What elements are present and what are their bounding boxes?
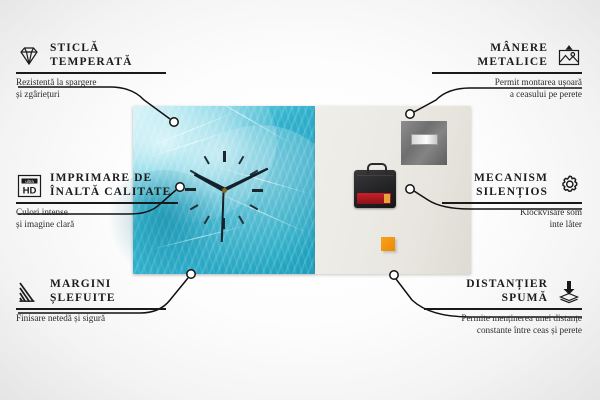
feature-title: MARGINI ȘLEFUITE [50, 278, 116, 305]
clock-center-pin [222, 188, 227, 193]
feature-title-line2: SPUMĂ [502, 292, 548, 304]
feature-title-row: MARGINI ȘLEFUITE [16, 278, 166, 305]
quartz-mechanism [354, 170, 396, 208]
feature-description: Culori intense și imagine clară [16, 207, 178, 230]
battery-terminal [384, 194, 390, 203]
product-illustration [133, 106, 471, 274]
feature-underline [424, 308, 582, 310]
infographic-canvas: STICLĂ TEMPERATĂ Rezistentă la spargere … [0, 0, 600, 400]
feature-polished-edges: MARGINI ȘLEFUITE Finisare netedă și sigu… [16, 278, 166, 325]
feature-description: Permite menținerea unei distanțe constan… [424, 313, 582, 336]
feature-title: MECANISM SILENȚIOS [474, 172, 548, 199]
feature-title-line1: IMPRIMARE DE [50, 172, 152, 184]
mechanism-hanger-loop [367, 163, 386, 174]
feature-desc-line1: Klockvisare som [520, 207, 582, 217]
feature-title-line1: MECANISM [474, 172, 548, 184]
feature-desc-line1: Finisare netedă și sigură [16, 313, 105, 323]
feature-title-row: DISTANȚIER SPUMĂ [424, 278, 582, 305]
feature-title-line2: ÎNALTĂ CALITATE [50, 186, 171, 198]
feature-metal-handles: MÂNERE METALICE Permit montarea ușoară a… [432, 42, 582, 100]
svg-text:HD: HD [22, 185, 36, 196]
feature-title-line1: STICLĂ [50, 42, 99, 54]
gear-icon [556, 173, 582, 199]
feature-underline [16, 72, 166, 74]
feature-title: DISTANȚIER SPUMĂ [466, 278, 548, 305]
feature-title-row: MECANISM SILENȚIOS [442, 172, 582, 199]
polished-edge-icon [16, 279, 42, 305]
feature-foam-spacer: DISTANȚIER SPUMĂ Permite menținerea unei… [424, 278, 582, 336]
feature-description: Permit montarea ușoară a ceasului pe per… [432, 77, 582, 100]
feature-title-row: MÂNERE METALICE [432, 42, 582, 69]
feature-tempered-glass: STICLĂ TEMPERATĂ Rezistentă la spargere … [16, 42, 166, 100]
foam-spacer [381, 237, 395, 251]
feature-high-quality-print: ultra HD IMPRIMARE DE ÎNALTĂ CALITATE Cu… [16, 172, 178, 230]
feature-desc-line1: Permite menținerea unei distanțe [461, 313, 582, 323]
feature-description: Rezistentă la spargere și zgâriețuri [16, 77, 166, 100]
ultra-hd-icon: ultra HD [16, 173, 42, 199]
feature-desc-line1: Permit montarea ușoară [495, 77, 582, 87]
diamond-icon [16, 43, 42, 69]
feature-underline [442, 202, 582, 204]
feature-silent-mechanism: MECANISM SILENȚIOS Klockvisare som inte … [442, 172, 582, 230]
feature-desc-line2: a ceasului pe perete [510, 89, 582, 99]
feature-title-line2: SILENȚIOS [476, 186, 548, 198]
framed-picture-icon [556, 43, 582, 69]
feature-title-row: STICLĂ TEMPERATĂ [16, 42, 166, 69]
feature-desc-line2: și imagine clară [16, 219, 74, 229]
mechanism-seam [357, 175, 392, 176]
feature-underline [432, 72, 582, 74]
feature-title-row: ultra HD IMPRIMARE DE ÎNALTĂ CALITATE [16, 172, 178, 199]
battery [357, 193, 391, 204]
feature-title: IMPRIMARE DE ÎNALTĂ CALITATE [50, 172, 171, 199]
feature-title-line1: MÂNERE [490, 42, 548, 54]
feature-title-line2: TEMPERATĂ [50, 56, 133, 68]
svg-text:ultra: ultra [25, 178, 34, 183]
feature-desc-line1: Rezistentă la spargere [16, 77, 96, 87]
feature-title: MÂNERE METALICE [477, 42, 548, 69]
feature-desc-line2: inte låter [550, 219, 582, 229]
spacer-down-arrow-icon [556, 279, 582, 305]
feature-title: STICLĂ TEMPERATĂ [50, 42, 133, 69]
feature-description: Klockvisare som inte låter [442, 207, 582, 230]
feature-desc-line2: constante între ceas și perete [477, 325, 582, 335]
feature-title-line2: METALICE [477, 56, 548, 68]
feature-title-line1: DISTANȚIER [466, 278, 548, 290]
feature-underline [16, 308, 166, 310]
metal-hanger-plate [401, 121, 447, 165]
feature-underline [16, 202, 178, 204]
feature-description: Finisare netedă și sigură [16, 313, 166, 324]
hanger-slot [411, 134, 438, 145]
feature-desc-line2: și zgâriețuri [16, 89, 60, 99]
feature-title-line2: ȘLEFUITE [50, 292, 116, 304]
feature-desc-line1: Culori intense [16, 207, 68, 217]
feature-title-line1: MARGINI [50, 278, 111, 290]
